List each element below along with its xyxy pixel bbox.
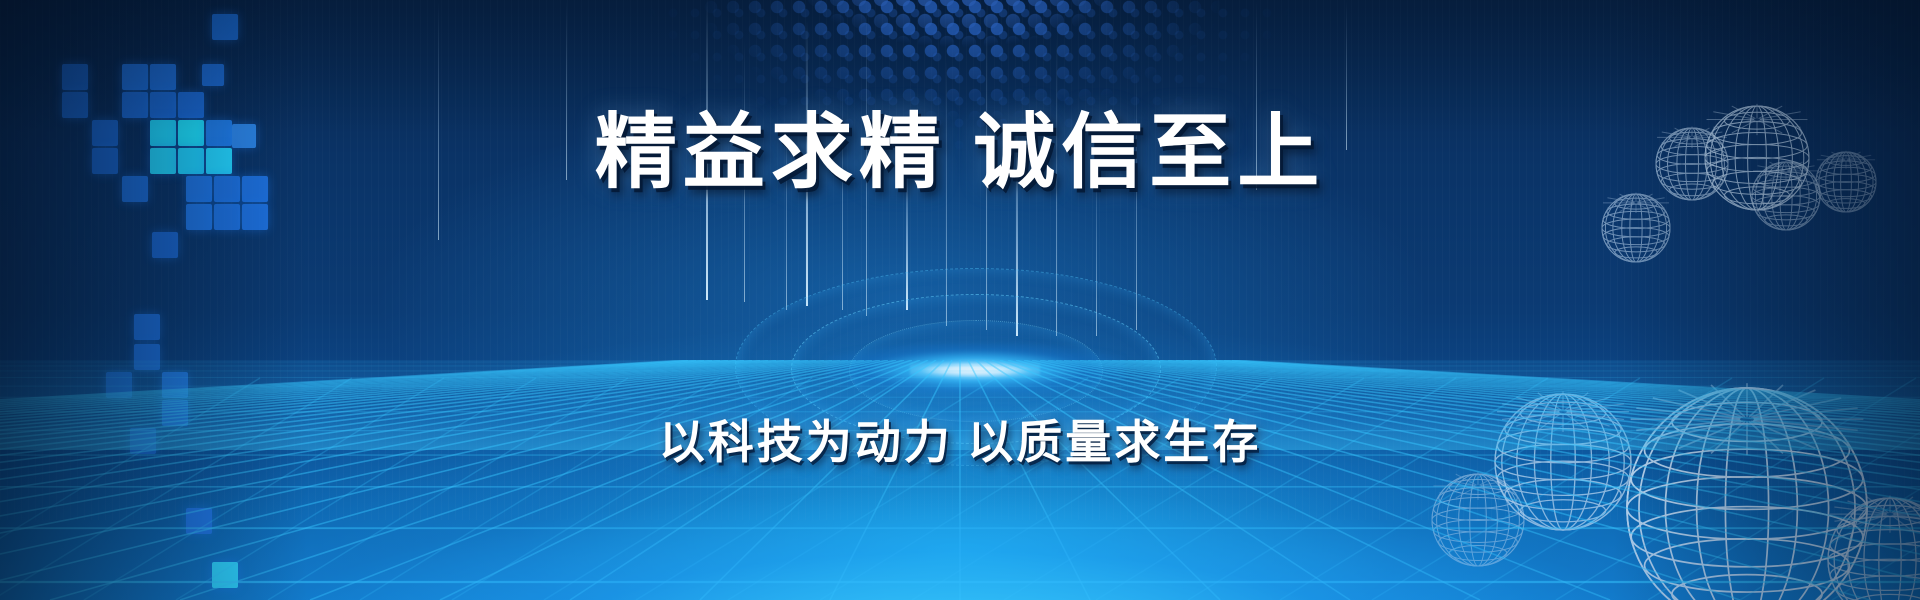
wireframe-globe-icon <box>1599 191 1673 265</box>
perspective-grid-floor <box>0 360 1920 600</box>
dot-matrix-icon <box>760 0 1160 116</box>
pixel-square <box>212 14 238 40</box>
pixel-square <box>62 64 88 90</box>
banner-subtitle: 以科技为动力 以质量求生存 <box>0 420 1920 466</box>
pixel-square <box>150 64 176 90</box>
pixel-square <box>134 314 160 340</box>
banner-title: 精益求精 诚信至上 <box>0 112 1920 194</box>
pixel-square <box>202 64 224 86</box>
pixel-square <box>122 64 148 90</box>
pixel-square <box>214 204 240 230</box>
pixel-square <box>186 204 212 230</box>
grid-lines <box>0 360 1920 600</box>
hero-banner: 精益求精 诚信至上 以科技为动力 以质量求生存 <box>0 0 1920 600</box>
pixel-square <box>242 204 268 230</box>
pixel-square <box>152 232 178 258</box>
